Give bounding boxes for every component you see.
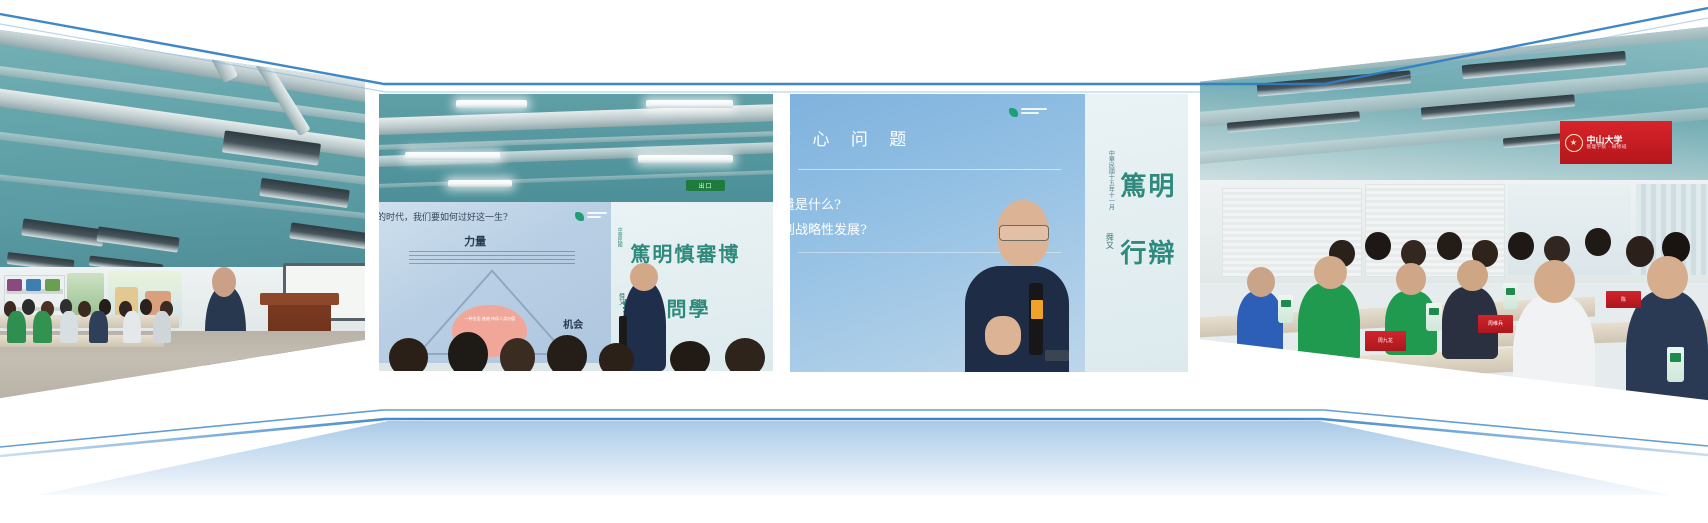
gallery-slide-left[interactable] (0, 14, 372, 410)
brand-mark-icon (1009, 108, 1018, 117)
speaker-hand (985, 316, 1021, 355)
university-seal-icon: ★ (1565, 134, 1583, 152)
slide-circle-label: 一种全面 普遍 持续人类价值 (454, 316, 525, 321)
banner-subtitle: 管理学院 · 研修班 (1587, 145, 1628, 150)
wall-calligraphy-seal: 舜又 (617, 293, 626, 305)
table-nameplate: 陈 (1606, 291, 1642, 308)
photo-lecture-slide: 出口 的时代，我们要如何过好这一生? 力量 一种全面 普遍 持续人类价值 机会 (377, 94, 773, 371)
photo-audience: ★ 中山大学 管理学院 · 研修班 (1196, 14, 1708, 410)
presenter-head (630, 263, 658, 291)
slide-title: 核 心 问 题 (790, 125, 914, 150)
slide-question-1: 量是什么? (790, 194, 841, 213)
water-bottle (1503, 283, 1517, 309)
university-banner: ★ 中山大学 管理学院 · 研修班 (1560, 121, 1673, 165)
slide-center-label: 力量 (464, 233, 486, 249)
brand-wordmark-icon (587, 212, 607, 220)
brand-wordmark-icon (1021, 108, 1047, 116)
university-banner-text: 中山大学 管理学院 · 研修班 (1587, 136, 1628, 150)
water-bottle (1211, 359, 1228, 391)
table-nameplate: 周维兵 (1478, 315, 1514, 333)
floor-plate (0, 421, 1708, 503)
photo-speaker-closeup: 核 心 问 题 量是什么? 到战略性发展? 篤明 行辯 中華民國十五年十一月 舜… (790, 94, 1188, 372)
wall-calligraphy-seal-2: 舜又 (1104, 233, 1115, 249)
slide-headline: 的时代，我们要如何过好这一生? (377, 210, 607, 223)
slide-subtext (409, 251, 575, 265)
speaker-glasses-icon (999, 225, 1049, 241)
water-bottle (1278, 295, 1293, 323)
speaker-microphone-flag (1031, 300, 1043, 319)
speaker-watch (1045, 350, 1069, 361)
nameplate-text: 陈 (1621, 296, 1626, 303)
nameplate-text: 周九龙 (1378, 337, 1393, 344)
bottom-fade (0, 495, 1708, 523)
wall-calligraphy-line1-2: 篤明 (1120, 166, 1176, 203)
wall-calligraphy-line2-2: 行辯 (1120, 233, 1176, 270)
wall-calligraphy-side: 中華民國 (617, 227, 624, 247)
brand-mark-icon (575, 212, 584, 221)
nameplate-text: 周维兵 (1488, 320, 1503, 327)
gallery-slide-center-right[interactable]: 核 心 问 题 量是什么? 到战略性发展? 篤明 行辯 中華民國十五年十一月 舜… (790, 94, 1188, 372)
water-bottle (1426, 303, 1441, 331)
photo-classroom-wide (0, 14, 372, 410)
water-bottle (1667, 347, 1684, 383)
exit-sign-label: 出口 (699, 181, 713, 190)
gallery-slide-right[interactable]: ★ 中山大学 管理学院 · 研修班 (1196, 14, 1708, 410)
panel-gap-left (365, 0, 379, 420)
exit-sign: 出口 (686, 180, 726, 191)
wall-calligraphy-side-2: 中華民國十五年十一月 (1106, 150, 1115, 210)
slide-right-label: 机会 (563, 316, 583, 331)
slide-divider (798, 169, 1061, 170)
speaker-microphone (1029, 283, 1043, 355)
floor-outline (0, 419, 1708, 456)
gallery-slide-center-left[interactable]: 出口 的时代，我们要如何过好这一生? 力量 一种全面 普遍 持续人类价值 机会 (377, 94, 773, 371)
panel-gap-mid (773, 80, 790, 380)
panel-gap-right (1188, 0, 1200, 420)
slide-brand-logo-2 (1009, 108, 1047, 117)
table-nameplate: 周九龙 (1365, 331, 1406, 351)
floor-outline-secondary (0, 410, 1708, 447)
slide-brand-logo (575, 212, 607, 221)
slide-question-2: 到战略性发展? (790, 219, 867, 238)
photo-gallery-stage: 出口 的时代，我们要如何过好这一生? 力量 一种全面 普遍 持续人类价值 机会 (0, 0, 1708, 523)
